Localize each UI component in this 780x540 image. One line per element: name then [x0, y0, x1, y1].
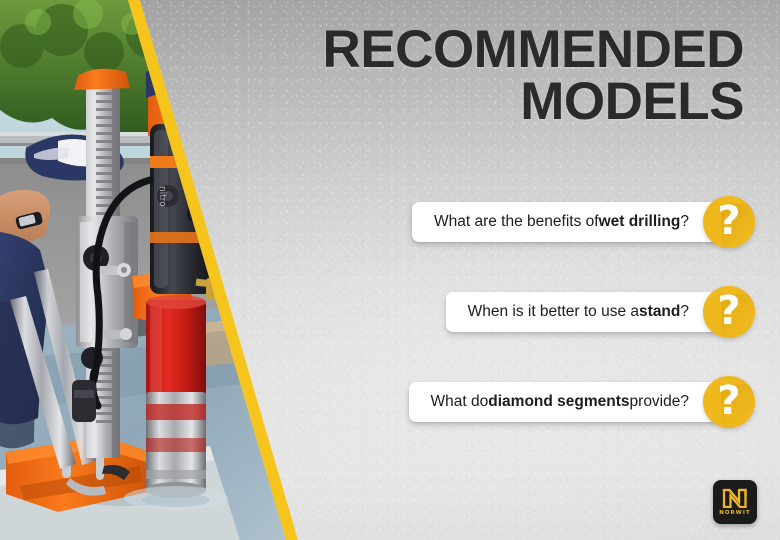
svg-text:.18: .18	[64, 150, 75, 158]
question-text-emphasis: stand	[639, 303, 680, 321]
question-mark-icon[interactable]: ?	[703, 376, 755, 428]
question-mark-glyph: ?	[703, 286, 755, 338]
question-card[interactable]: What are the benefits of wet drilling?	[412, 202, 717, 242]
question-mark-icon[interactable]: ?	[703, 196, 755, 248]
question-row[interactable]: What are the benefits of wet drilling? ?	[0, 196, 780, 248]
question-text-emphasis: diamond segments	[488, 393, 629, 411]
question-text-prefix: What do	[431, 393, 489, 411]
question-mark-icon[interactable]: ?	[703, 286, 755, 338]
n-monogram-icon	[722, 488, 748, 508]
question-text-emphasis: wet drilling	[599, 213, 681, 231]
question-text-prefix: When is it better to use a	[468, 303, 639, 321]
question-list: What are the benefits of wet drilling? ?…	[0, 196, 780, 466]
brand-logo[interactable]: NORWIT	[713, 480, 757, 524]
question-card[interactable]: When is it better to use a stand?	[446, 292, 717, 332]
question-row[interactable]: What do diamond segments provide? ?	[0, 376, 780, 428]
question-text-suffix: ?	[680, 213, 689, 231]
headline-line-2: MODELS	[224, 76, 744, 128]
question-card[interactable]: What do diamond segments provide?	[409, 382, 717, 422]
question-text-suffix: provide?	[630, 393, 689, 411]
question-mark-glyph: ?	[703, 376, 755, 428]
headline-line-1: RECOMMENDED	[323, 20, 744, 79]
page-title: RECOMMENDED MODELS	[224, 24, 744, 129]
logo-wordmark: NORWIT	[719, 510, 750, 516]
question-mark-glyph: ?	[703, 196, 755, 248]
question-text-prefix: What are the benefits of	[434, 213, 599, 231]
question-text-suffix: ?	[680, 303, 689, 321]
question-row[interactable]: When is it better to use a stand? ?	[0, 286, 780, 338]
slide-canvas: .18	[0, 0, 780, 540]
